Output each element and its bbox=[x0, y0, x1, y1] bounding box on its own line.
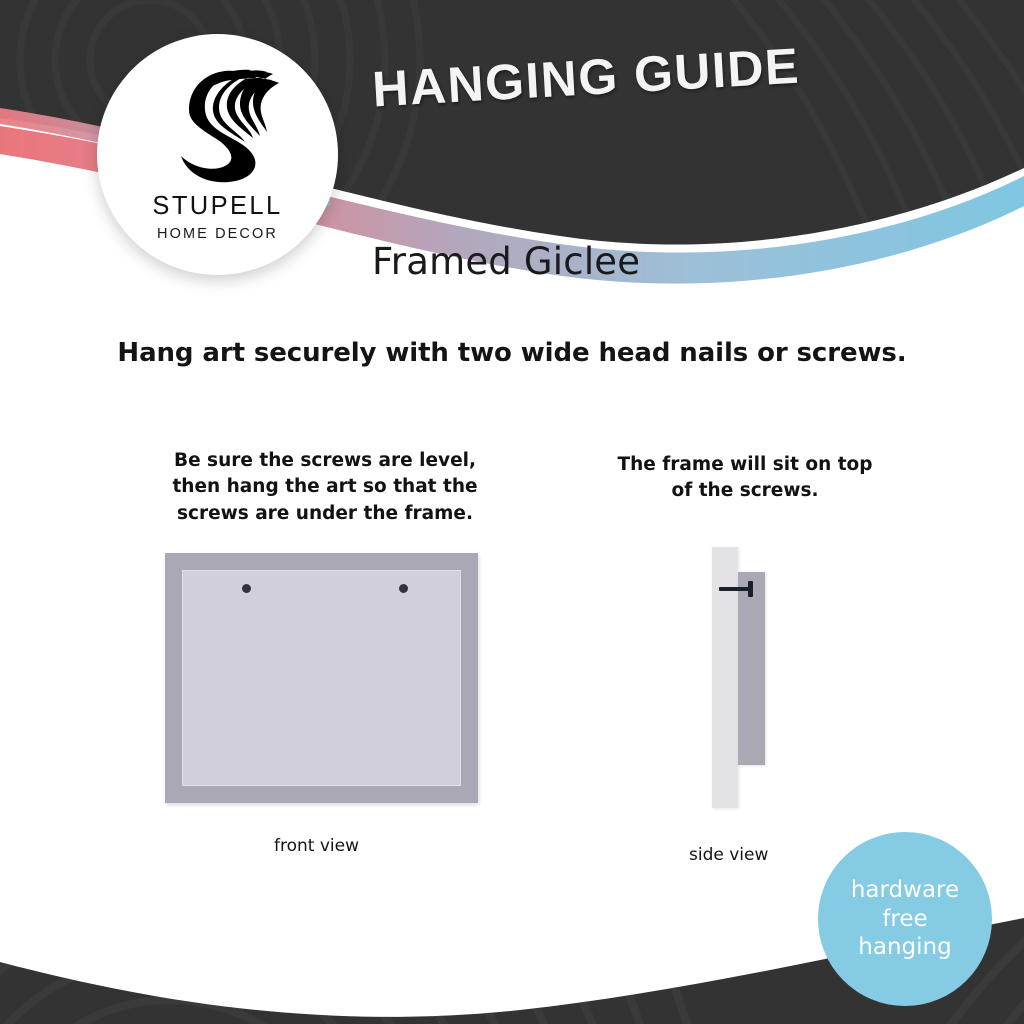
badge-line-1: hardware bbox=[851, 876, 959, 905]
instruction-block-front: Be sure the screws are level, then hang … bbox=[160, 448, 490, 527]
badge-line-2: free bbox=[882, 905, 927, 934]
stupell-swirl-logo-icon bbox=[153, 58, 283, 184]
product-type-label: Framed Giclee bbox=[372, 240, 640, 283]
instruction-line: of the screws. bbox=[595, 478, 895, 504]
instruction-line: then hang the art so that the bbox=[160, 474, 490, 500]
side-view-frame bbox=[738, 572, 765, 765]
brand-logo-badge: STUPELL HOME DECOR bbox=[97, 34, 338, 275]
instruction-line: The frame will sit on top bbox=[595, 452, 895, 478]
logo-wordmark: STUPELL bbox=[97, 192, 338, 221]
hanging-guide-canvas: STUPELL HOME DECOR HANGING GUIDE Framed … bbox=[0, 0, 1024, 1024]
side-view-caption: side view bbox=[689, 845, 768, 865]
front-view-art-panel bbox=[182, 570, 461, 786]
instruction-line: Be sure the screws are level, bbox=[160, 448, 490, 474]
front-view-frame-diagram bbox=[165, 553, 478, 803]
logo-tagline: HOME DECOR bbox=[97, 226, 338, 242]
instruction-block-side: The frame will sit on top of the screws. bbox=[595, 452, 895, 505]
primary-instruction: Hang art securely with two wide head nai… bbox=[0, 338, 1024, 368]
screw-dot-left-icon bbox=[242, 584, 251, 593]
badge-line-3: hanging bbox=[858, 933, 951, 962]
screw-dot-right-icon bbox=[399, 584, 408, 593]
page-title: HANGING GUIDE bbox=[371, 32, 893, 119]
front-view-caption: front view bbox=[274, 836, 359, 856]
hardware-free-hanging-badge: hardware free hanging bbox=[818, 832, 992, 1006]
side-view-screw-head-icon bbox=[748, 581, 753, 597]
instruction-line: screws are under the frame. bbox=[160, 501, 490, 527]
